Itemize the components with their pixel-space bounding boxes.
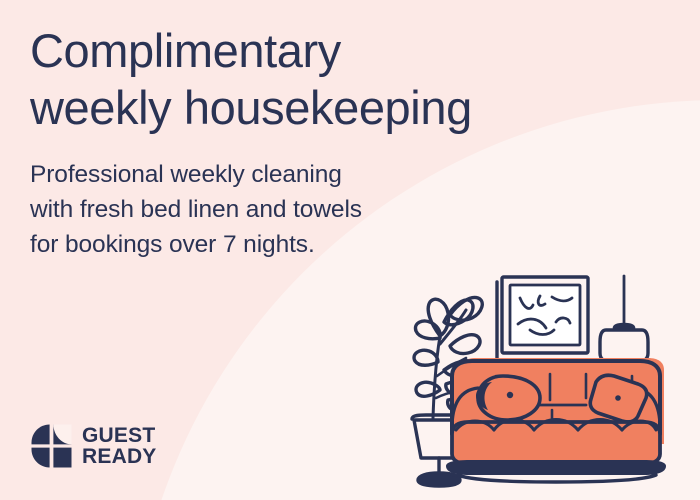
- round-cushion-icon: [476, 376, 540, 420]
- headline: Complimentary weekly housekeeping: [30, 22, 630, 136]
- coral-sofa-icon: [446, 358, 666, 482]
- square-pillow-icon: [590, 375, 646, 422]
- promo-banner: Complimentary weekly housekeeping Profes…: [0, 0, 700, 500]
- logo-wordmark: GUEST READY: [82, 425, 157, 468]
- living-room-illustration: [400, 258, 700, 500]
- guestready-quadrant-mark: [31, 424, 72, 468]
- subcopy: Professional weekly cleaning with fresh …: [30, 157, 450, 262]
- guestready-logo: GUEST READY: [31, 424, 157, 468]
